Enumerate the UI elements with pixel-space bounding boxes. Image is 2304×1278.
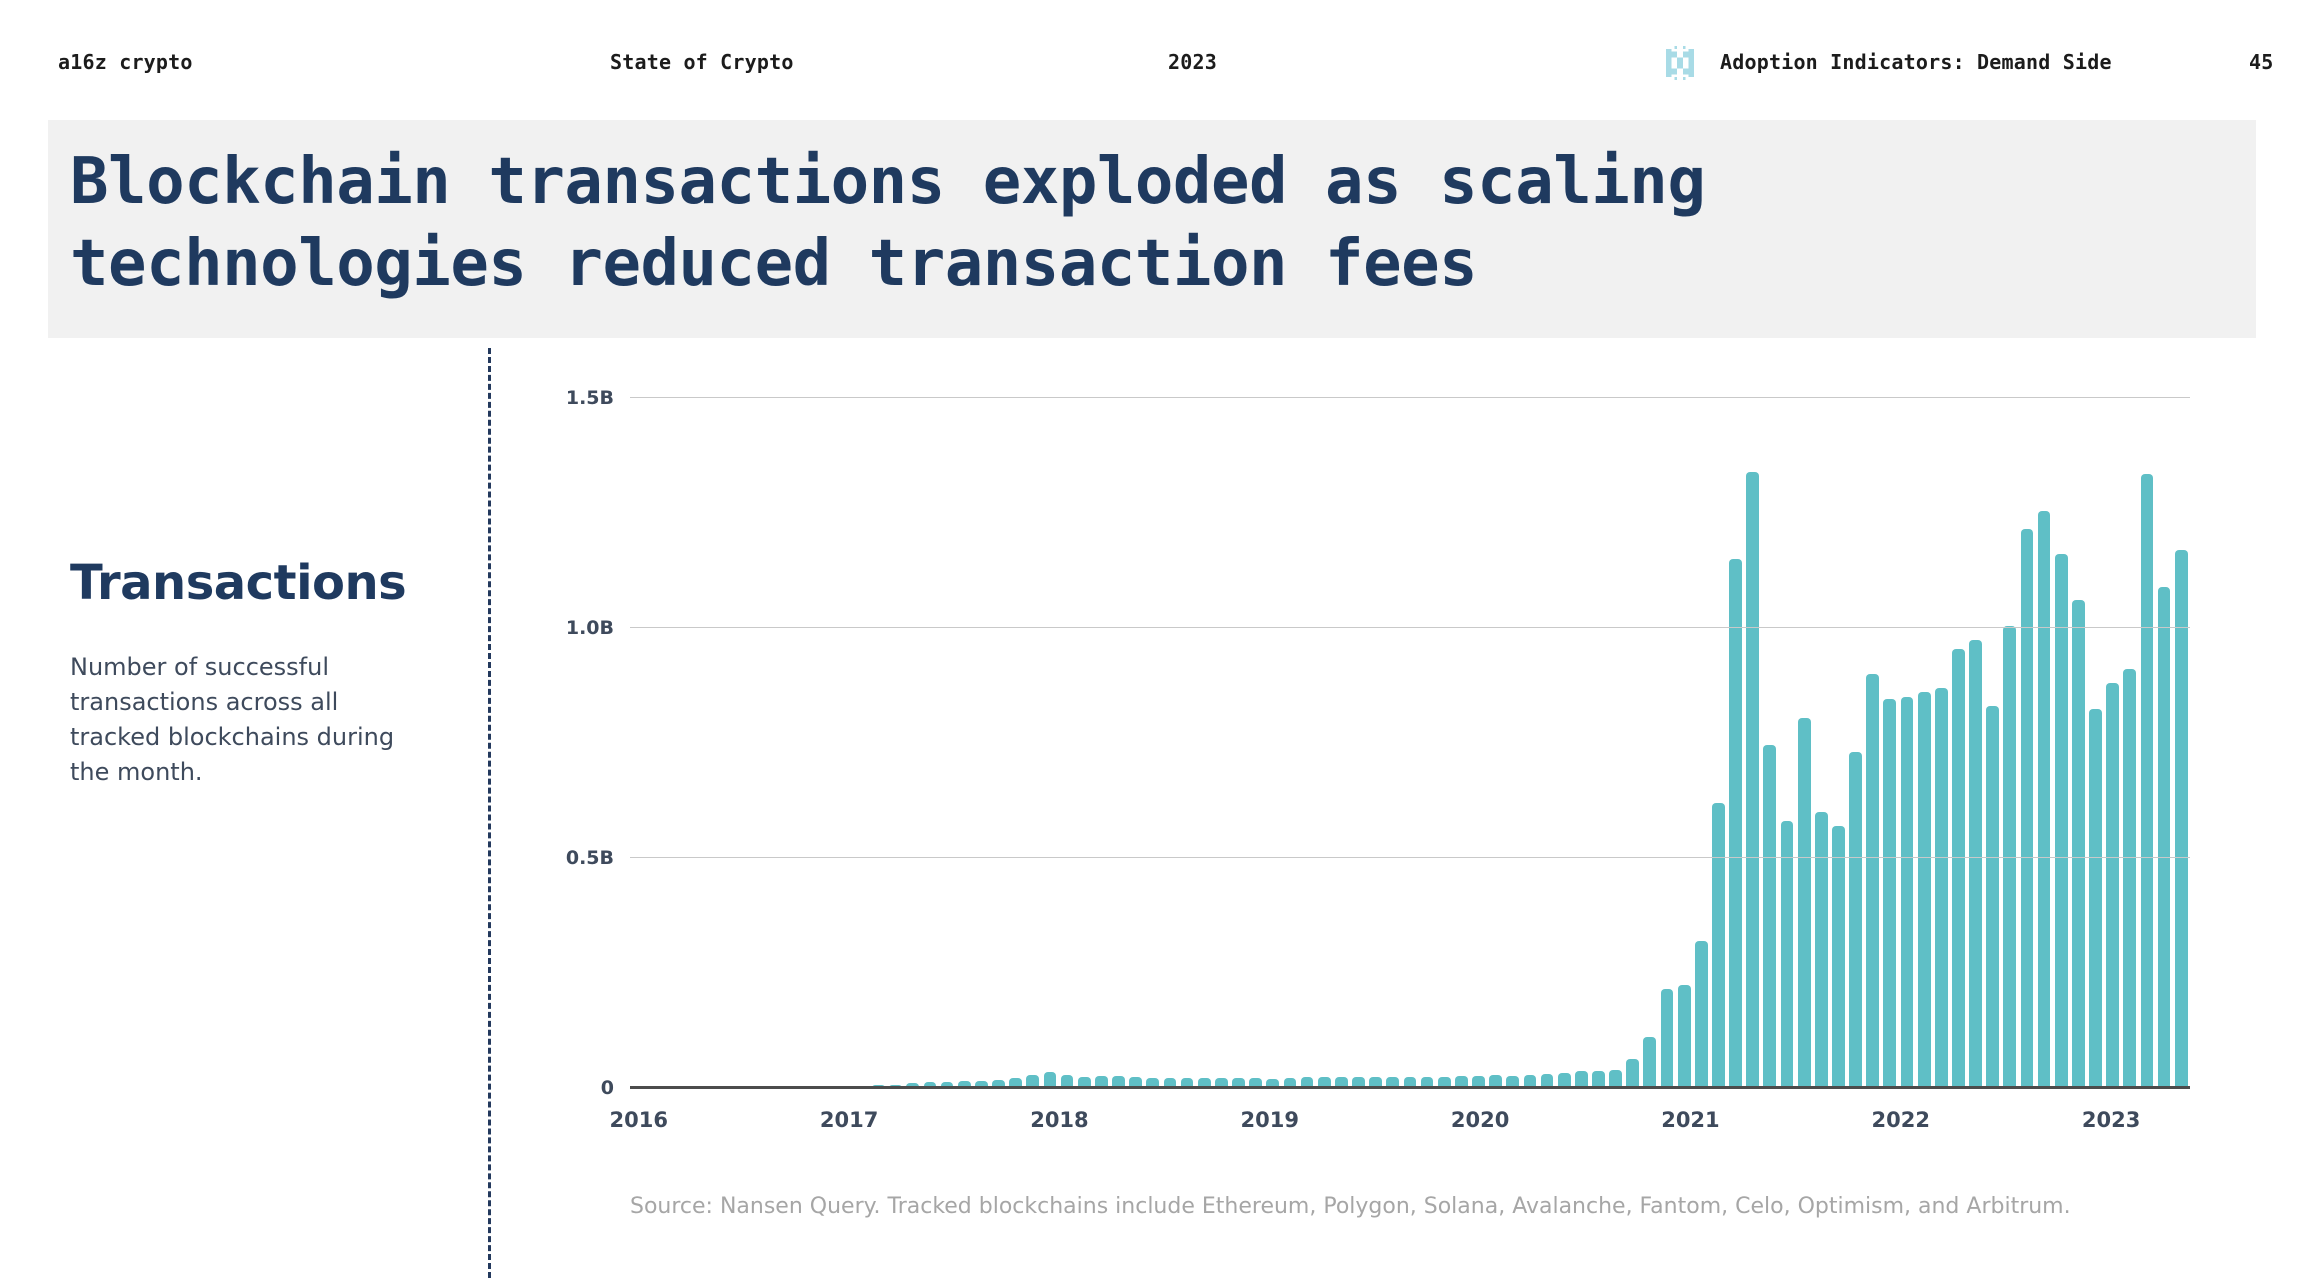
slide-body: Transactions Number of successful transa… xyxy=(0,348,2304,1278)
bar xyxy=(1969,640,1982,1089)
bar xyxy=(1661,989,1674,1088)
bar xyxy=(1901,697,1914,1088)
bar xyxy=(1935,688,1948,1088)
bar xyxy=(2158,587,2171,1088)
bar xyxy=(2072,600,2085,1088)
bar xyxy=(1815,812,1828,1088)
bar xyxy=(1866,674,1879,1088)
y-axis-tick-label: 1.5B xyxy=(566,387,614,409)
y-axis-tick-label: 0.5B xyxy=(566,847,614,869)
bar xyxy=(1849,752,1862,1088)
bar xyxy=(2021,529,2034,1088)
chart-gridline xyxy=(630,1087,2190,1088)
x-axis-tick-label: 2023 xyxy=(2082,1108,2140,1132)
header-deck-title: State of Crypto xyxy=(610,50,794,74)
bar xyxy=(1883,699,1896,1088)
bar xyxy=(2055,554,2068,1088)
bar xyxy=(1781,821,1794,1088)
metric-description: Number of successful transactions across… xyxy=(70,650,410,789)
metric-heading: Transactions xyxy=(70,558,430,608)
x-axis-tick-labels: 20162017201820192020202120222023 xyxy=(630,1108,2190,1148)
bar xyxy=(1746,472,1759,1088)
x-axis-tick-label: 2020 xyxy=(1451,1108,1509,1132)
x-axis-tick-label: 2017 xyxy=(820,1108,878,1132)
bar xyxy=(2089,709,2102,1089)
bar xyxy=(2106,683,2119,1088)
bar xyxy=(1763,745,1776,1088)
slide-title-band: Blockchain transactions exploded as scal… xyxy=(48,120,2256,338)
header-page-number: 45 xyxy=(2249,50,2273,74)
bar xyxy=(2141,474,2154,1088)
slide-title: Blockchain transactions exploded as scal… xyxy=(70,142,2256,306)
bar xyxy=(1798,718,1811,1088)
slide-header: a16z crypto State of Crypto 2023 Adoptio… xyxy=(0,0,2304,100)
bar xyxy=(1643,1037,1656,1088)
chart-gridline xyxy=(630,627,2190,628)
chart-source-note: Source: Nansen Query. Tracked blockchain… xyxy=(630,1193,2190,1222)
bar xyxy=(1712,803,1725,1088)
header-brand: a16z crypto xyxy=(58,50,193,74)
bar xyxy=(1626,1059,1639,1088)
a16z-pixel-logo-icon xyxy=(1665,46,1695,80)
x-axis-tick-label: 2019 xyxy=(1241,1108,1299,1132)
bar xyxy=(1952,649,1965,1088)
header-section-label: Adoption Indicators: Demand Side xyxy=(1720,50,2112,74)
bar xyxy=(1832,826,1845,1088)
bar xyxy=(2123,669,2136,1088)
header-year: 2023 xyxy=(1168,50,1217,74)
chart-gridline xyxy=(630,397,2190,398)
chart-gridline xyxy=(630,857,2190,858)
transactions-bar-chart: 00.5B1.0B1.5B 20162017201820192020202120… xyxy=(520,348,2260,1278)
y-axis-tick-label: 1.0B xyxy=(566,617,614,639)
x-axis-tick-label: 2021 xyxy=(1661,1108,1719,1132)
x-axis-tick-label: 2018 xyxy=(1030,1108,1088,1132)
vertical-dashed-divider xyxy=(488,348,491,1278)
bar xyxy=(1918,692,1931,1088)
bar-series xyxy=(630,398,2190,1088)
x-axis-tick-label: 2022 xyxy=(1872,1108,1930,1132)
bar xyxy=(1695,941,1708,1088)
bar xyxy=(1678,985,1691,1089)
bar xyxy=(1729,559,1742,1088)
y-axis-tick-label: 0 xyxy=(601,1077,614,1099)
bar xyxy=(1986,706,1999,1088)
x-axis-tick-label: 2016 xyxy=(610,1108,668,1132)
bar xyxy=(2038,511,2051,1088)
chart-plot-area: 00.5B1.0B1.5B xyxy=(630,398,2190,1088)
bar xyxy=(2175,550,2188,1088)
left-description-column: Transactions Number of successful transa… xyxy=(70,558,430,790)
